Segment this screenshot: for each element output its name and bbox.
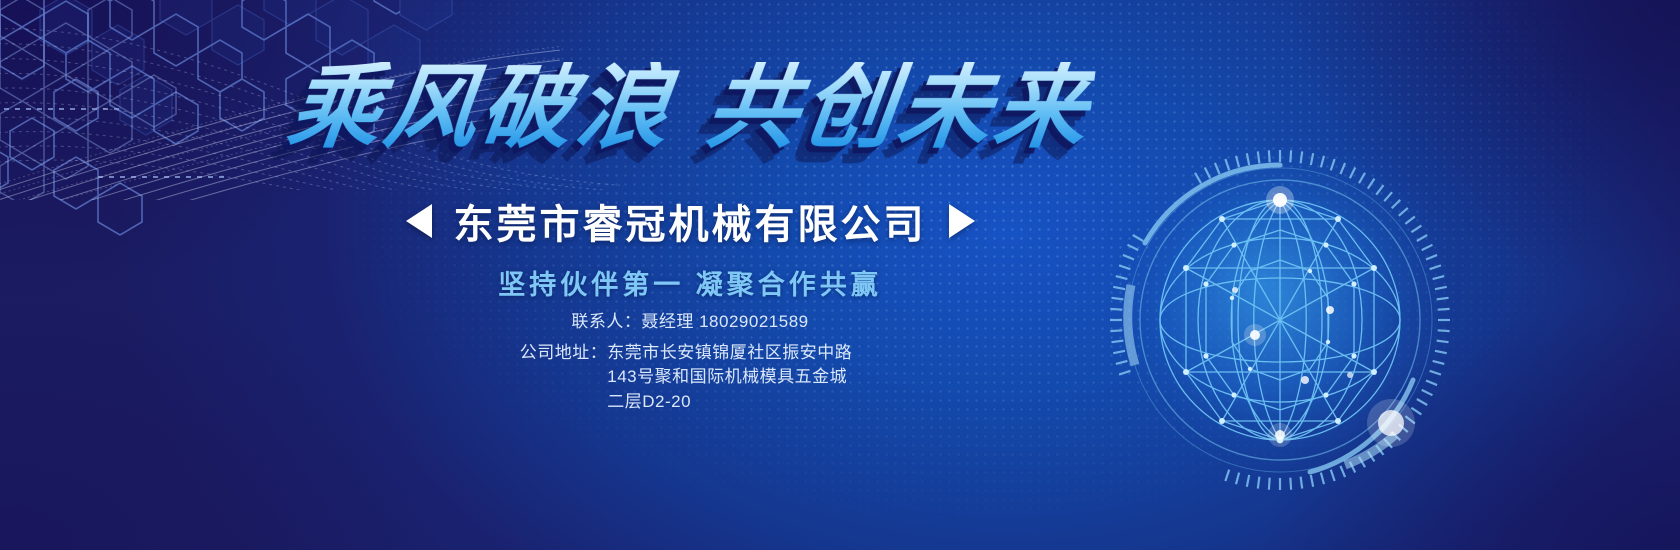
triangle-left-icon bbox=[406, 204, 432, 238]
company-address-value: 东莞市长安镇锦厦社区振安中路143号聚和国际机械模具五金城二层D2-20 bbox=[607, 341, 860, 415]
contact-block: 联系人： 聂经理 18029021589 公司地址： 东莞市长安镇锦厦社区振安中… bbox=[0, 310, 1680, 415]
contact-person-line: 联系人： 聂经理 18029021589 bbox=[571, 310, 808, 335]
contact-person-label: 联系人： bbox=[571, 310, 641, 335]
company-name-row: 东莞市睿冠机械有限公司 bbox=[0, 192, 1680, 250]
company-name: 东莞市睿冠机械有限公司 bbox=[454, 192, 927, 250]
contact-person-value: 聂经理 18029021589 bbox=[641, 310, 808, 335]
tagline-text: 坚持伙伴第一 凝聚合作共赢 bbox=[0, 263, 1680, 302]
promo-banner: 乘风破浪共创未来 东莞市睿冠机械有限公司 坚持伙伴第一 凝聚合作共赢 联系人： … bbox=[0, 0, 1680, 550]
company-address-line: 公司地址： 东莞市长安镇锦厦社区振安中路143号聚和国际机械模具五金城二层D2-… bbox=[520, 341, 861, 415]
headline-text: 乘风破浪共创未来 bbox=[283, 62, 1096, 154]
headline-part-2: 共创未来 bbox=[701, 57, 1098, 159]
company-address-label: 公司地址： bbox=[520, 341, 608, 366]
headline-part-1: 乘风破浪 bbox=[283, 57, 680, 159]
triangle-right-icon bbox=[949, 204, 975, 238]
banner-headline: 乘风破浪共创未来 bbox=[0, 62, 1680, 154]
